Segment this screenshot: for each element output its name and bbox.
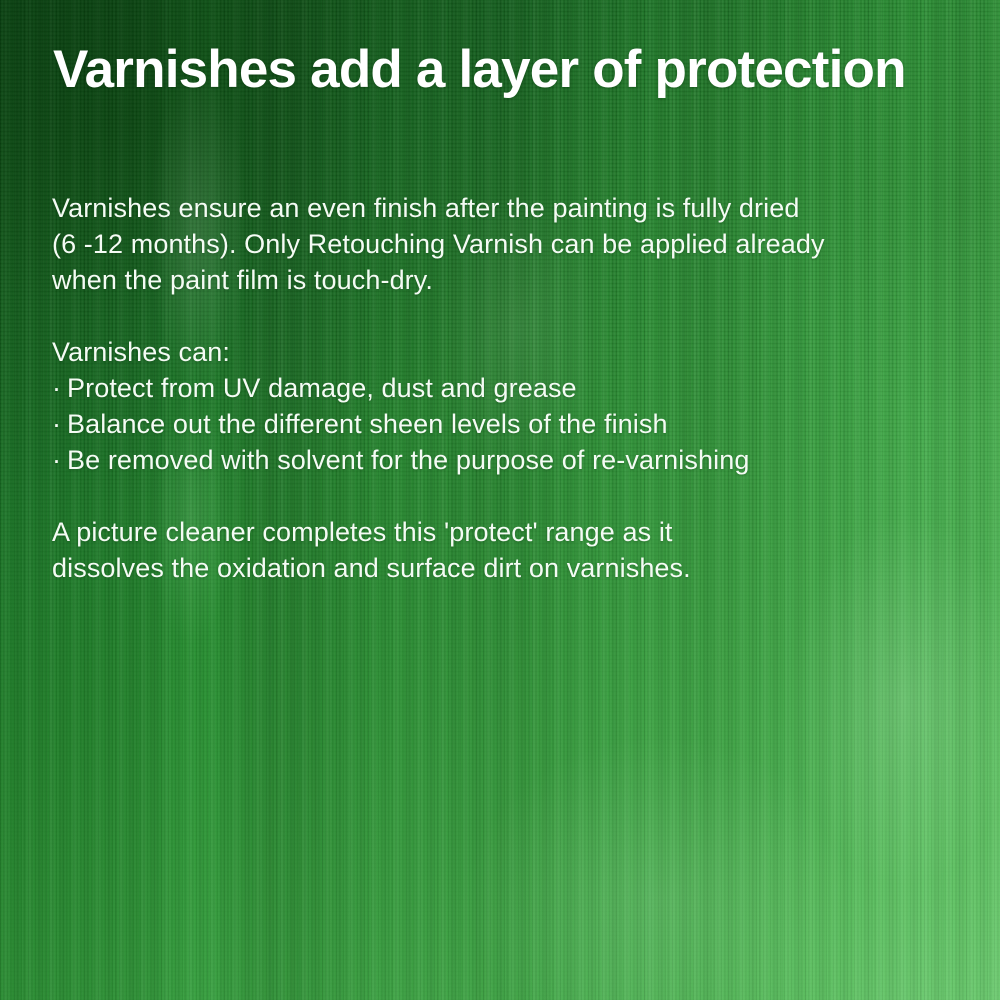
list-item: · Protect from UV damage, dust and greas… (52, 370, 952, 406)
page-title: Varnishes add a layer of protection (53, 41, 906, 98)
list-item: · Balance out the different sheen levels… (52, 406, 952, 442)
list-intro-line: Varnishes can: (52, 334, 952, 370)
painted-canvas-card: Varnishes add a layer of protection Varn… (0, 0, 1000, 1000)
closing-paragraph: A picture cleaner completes this 'protec… (52, 514, 952, 586)
bullet-dot-icon: · (52, 370, 61, 406)
list-item-label: Balance out the different sheen levels o… (67, 409, 668, 439)
intro-paragraph: Varnishes ensure an even finish after th… (52, 190, 952, 298)
list-item-label: Be removed with solvent for the purpose … (67, 445, 749, 475)
text-content-area: Varnishes add a layer of protection Varn… (0, 0, 1000, 1000)
bullet-dot-icon: · (52, 406, 61, 442)
varnish-capabilities-group: Varnishes can: · Protect from UV damage,… (52, 334, 952, 478)
capabilities-list: · Protect from UV damage, dust and greas… (52, 370, 952, 478)
body-copy: Varnishes ensure an even finish after th… (52, 190, 952, 586)
list-item-label: Protect from UV damage, dust and grease (67, 373, 577, 403)
list-item: · Be removed with solvent for the purpos… (52, 442, 952, 478)
bullet-dot-icon: · (52, 442, 61, 478)
